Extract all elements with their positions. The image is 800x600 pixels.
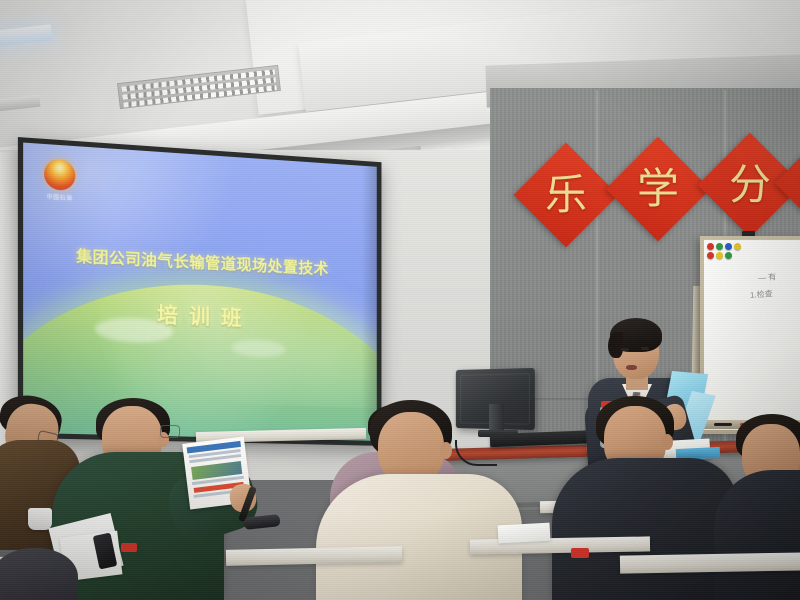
placard-character: 乐 — [529, 158, 603, 232]
attendee-ear — [662, 434, 673, 450]
marker-black-icon[interactable] — [714, 423, 732, 426]
attendee-ear — [440, 442, 452, 459]
presenter-eye-left — [621, 348, 629, 352]
whiteboard-surface[interactable]: — 有 1.检查 — [704, 240, 800, 430]
bottle-cap — [571, 548, 589, 558]
magnet-green-icon[interactable] — [716, 243, 723, 250]
attendee-dark-suit-right — [714, 470, 800, 600]
magnet-red-icon[interactable] — [707, 252, 714, 259]
desk-papers — [498, 523, 551, 544]
projection-screen-frame: 中国石油 集团公司油气长输管道现场处置技术 培训班 — [18, 137, 382, 446]
presenter-eye-right — [641, 347, 649, 351]
attendee-foreground-head — [0, 548, 78, 600]
attendee-glasses — [160, 425, 180, 438]
petrochina-logo: 中国石油 — [42, 158, 77, 202]
magnet-yellow-icon[interactable] — [734, 243, 741, 250]
wall-placard-2: 学 — [606, 137, 711, 242]
water-bottle[interactable] — [570, 556, 590, 600]
presenter-sideburn — [608, 332, 623, 358]
magnet-red-icon[interactable] — [707, 243, 714, 250]
desk-row-front-far-right — [620, 552, 800, 573]
magnet-yellow-icon[interactable] — [716, 252, 723, 259]
bottle-cap — [121, 543, 137, 552]
whiteboard-note-line-1: — 有 — [758, 272, 777, 284]
whiteboard: — 有 1.检查 — [700, 236, 800, 434]
wall-placard-1: 乐 — [514, 143, 619, 248]
attendee-cream-jacket — [316, 474, 522, 600]
projection-screen: 中国石油 集团公司油气长输管道现场处置技术 培训班 — [23, 143, 377, 441]
water-bottle[interactable] — [120, 550, 138, 600]
magnet-green-icon[interactable] — [725, 252, 732, 259]
desk-row-front-right — [470, 536, 650, 554]
whiteboard-note-line-2: 1.检查 — [749, 289, 772, 302]
coffee-cup[interactable] — [28, 508, 52, 530]
magnet-blue-icon[interactable] — [725, 243, 732, 250]
placard-character: 学 — [621, 152, 695, 226]
training-room-photo: 乐 学 分 享 中国石油 集团公司油气长输管道现场处置技术 培训班 — [0, 0, 800, 600]
screen-edge-shading — [362, 166, 377, 441]
placard-character: 享 — [790, 146, 800, 220]
petrochina-sunburst-icon — [44, 158, 75, 191]
desk-object — [243, 514, 280, 530]
presenter-mouth — [626, 365, 637, 370]
screen-glare — [191, 276, 377, 409]
